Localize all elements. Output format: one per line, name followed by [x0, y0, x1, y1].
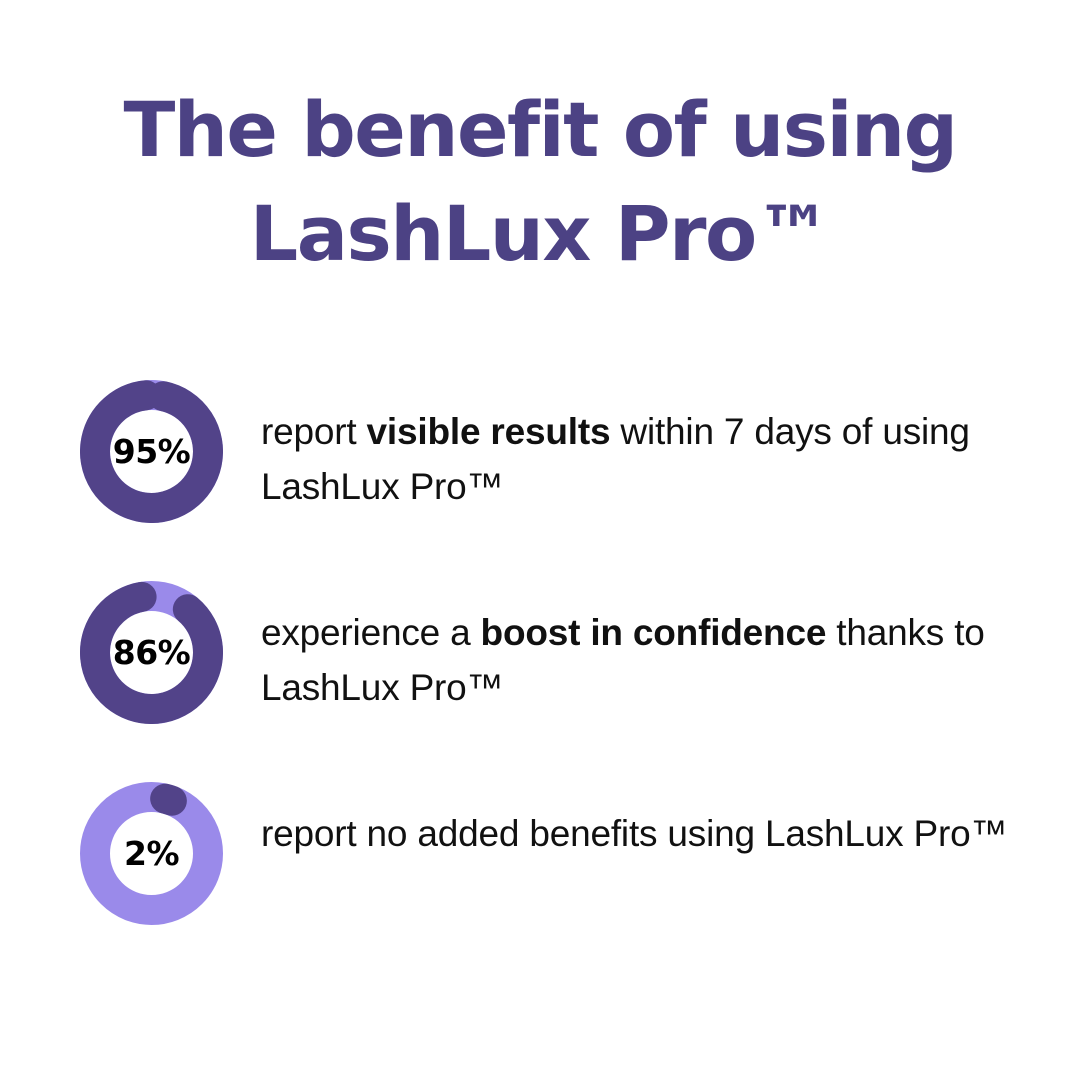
page-title-line-1: The benefit of using — [0, 78, 1080, 182]
donut-chart-no-added-benefits: 2% — [80, 782, 223, 925]
donut-percent-label: 95% — [80, 380, 223, 523]
stat-text-highlight: boost in confidence — [481, 612, 827, 653]
donut-chart-visible-results: 95% — [80, 380, 223, 523]
stat-text-lead: report no added benefits using LashLux P… — [261, 813, 1007, 854]
stat-row: 95% report visible results within 7 days… — [80, 380, 1020, 581]
donut-percent-label: 2% — [80, 782, 223, 925]
stat-list: 95% report visible results within 7 days… — [80, 380, 1020, 983]
donut-percent-label: 86% — [80, 581, 223, 724]
stat-description: report no added benefits using LashLux P… — [261, 782, 1020, 861]
page-title: The benefit of using LashLux Pro™ — [0, 78, 1080, 286]
stat-row: 86% experience a boost in confidence tha… — [80, 581, 1020, 782]
page-title-line-2: LashLux Pro™ — [0, 182, 1080, 286]
stat-description: report visible results within 7 days of … — [261, 380, 1020, 514]
stat-description: experience a boost in confidence thanks … — [261, 581, 1020, 715]
stat-text-lead: report — [261, 411, 367, 452]
stat-row: 2% report no added benefits using LashLu… — [80, 782, 1020, 983]
donut-chart-boost-in-confidence: 86% — [80, 581, 223, 724]
stat-text-lead: experience a — [261, 612, 481, 653]
stat-text-highlight: visible results — [367, 411, 611, 452]
infographic-page: The benefit of using LashLux Pro™ 95% re… — [0, 0, 1080, 1080]
